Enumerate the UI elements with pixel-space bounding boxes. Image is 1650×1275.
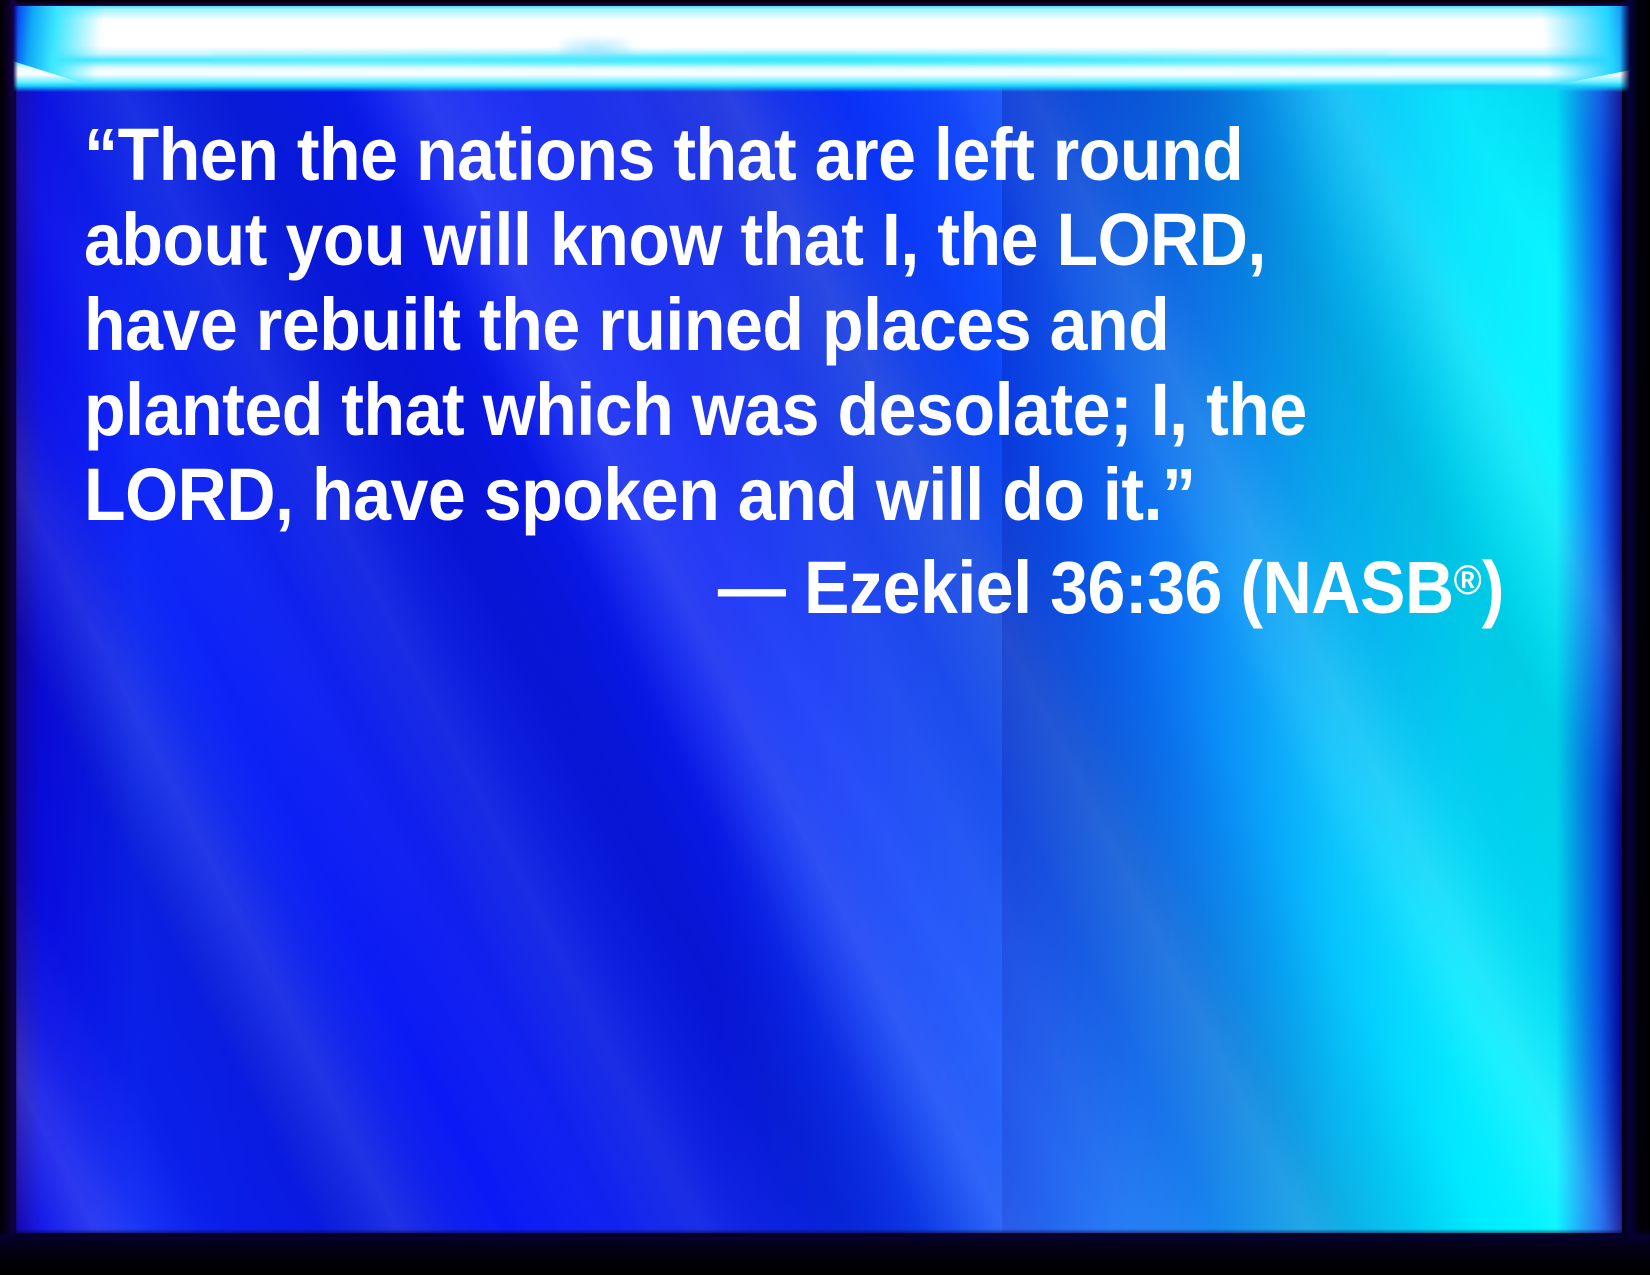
top-hairline (0, 0, 1650, 6)
verse-reference-prefix: — Ezekiel 36:36 (NASB (718, 546, 1454, 629)
canvas-edge-bottom (0, 1229, 1650, 1275)
verse-text: “Then the nations that are left round ab… (84, 112, 1390, 537)
top-glow-band (0, 0, 1650, 92)
verse-reference-suffix: ) (1482, 546, 1504, 629)
top-glow-cyan-streak (210, 52, 1390, 66)
registered-trademark-icon: ® (1454, 556, 1482, 603)
top-glow-notch (560, 38, 630, 60)
canvas-edge-right (1620, 0, 1650, 1275)
canvas-edge-left (0, 0, 18, 1275)
verse-reference: — Ezekiel 36:36 (NASB®) (198, 537, 1504, 630)
scripture-slide: “Then the nations that are left round ab… (0, 0, 1650, 1275)
